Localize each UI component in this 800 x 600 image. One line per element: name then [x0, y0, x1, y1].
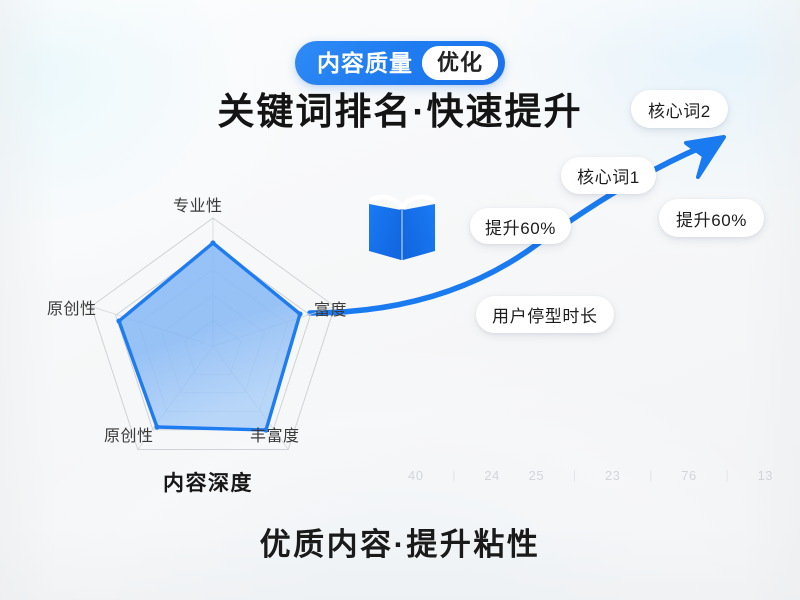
content-depth-caption: 内容深度: [163, 467, 253, 497]
page-title: 关键词排名·快速提升: [217, 91, 582, 134]
open-book-icon: [364, 188, 440, 266]
badge-pill-label: 优化: [422, 46, 498, 80]
ghost-axis-value-6: 13: [758, 468, 773, 483]
radar-chart: 专业性 富度 丰富度 原创性 原创性: [38, 196, 378, 466]
ghost-axis-value-4: 23: [605, 468, 620, 483]
chip-keyword-2[interactable]: 核心词2: [631, 90, 728, 128]
ghost-axis-strip: 40 | 24 25 | 23 | 76 | 13: [408, 462, 773, 488]
content-quality-badge[interactable]: 内容质量 优化: [295, 41, 505, 85]
radar-label-bottom-right: 丰富度: [250, 422, 300, 446]
radar-label-top: 专业性: [173, 192, 223, 216]
chip-uplift-right[interactable]: 提升60%: [659, 199, 764, 237]
growth-arrow-head: [686, 137, 724, 177]
radar-label-left: 原创性: [47, 295, 97, 319]
ghost-axis-value-3: 25: [529, 468, 544, 483]
radar-label-right: 富度: [314, 296, 347, 320]
chip-keyword-1[interactable]: 核心词1: [561, 157, 656, 194]
ghost-axis-value-5: 76: [681, 468, 696, 483]
poster-canvas: 内容质量 优化 关键词排名·快速提升: [0, 0, 800, 600]
footer-title: 优质内容·提升粘性: [260, 519, 541, 564]
badge-main-label: 内容质量: [317, 52, 413, 75]
ghost-axis-tick-3: |: [649, 468, 652, 482]
radar-label-bottom-left: 原创性: [104, 422, 154, 446]
ghost-axis-value-2: 24: [484, 468, 499, 483]
ghost-axis-value-1: 40: [408, 468, 423, 483]
radar-chart-svg: [38, 196, 378, 466]
ghost-axis-tick-4: |: [726, 468, 729, 482]
chip-dwell-time[interactable]: 用户停型时长: [476, 296, 614, 333]
chip-uplift-left[interactable]: 提升60%: [470, 208, 571, 244]
ghost-axis-tick-2: |: [573, 468, 576, 482]
ghost-axis-tick-1: |: [452, 468, 455, 482]
